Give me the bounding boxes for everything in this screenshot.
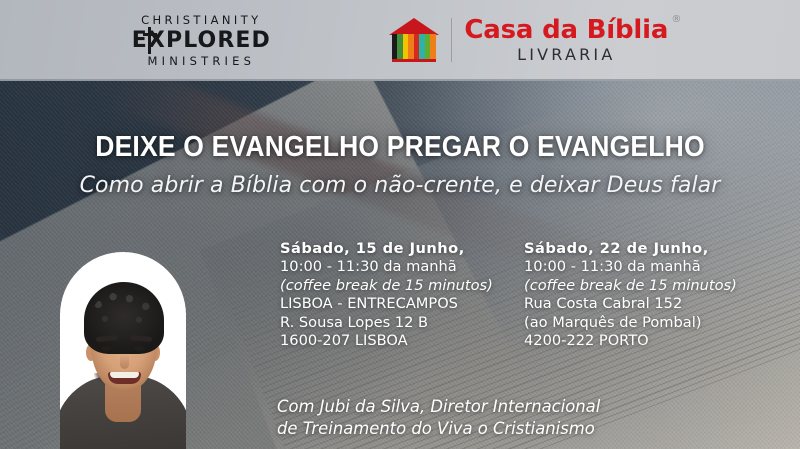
event-date: Sábado, 22 de Junho, [524, 240, 737, 258]
speaker-credit-line-1: Com Jubi da Silva, Diretor Internacional [277, 396, 600, 418]
event-details: Sábado, 15 de Junho, 10:00 - 11:30 da ma… [0, 0, 800, 449]
event-address: R. Sousa Lopes 12 B [280, 314, 493, 332]
event-postal: 4200-222 PORTO [524, 332, 737, 350]
event-venue: Rua Costa Cabral 152 [524, 295, 737, 313]
event-block-porto: Sábado, 22 de Junho, 10:00 - 11:30 da ma… [524, 240, 737, 350]
event-note: (coffee break de 15 minutos) [524, 277, 737, 295]
speaker-credit: Com Jubi da Silva, Diretor Internacional… [277, 396, 600, 440]
event-time: 10:00 - 11:30 da manhã [524, 258, 737, 276]
event-postal: 1600-207 LISBOA [280, 332, 493, 350]
event-block-lisboa: Sábado, 15 de Junho, 10:00 - 11:30 da ma… [280, 240, 493, 350]
event-venue: LISBOA - ENTRECAMPOS [280, 295, 493, 313]
event-address: (ao Marquês de Pombal) [524, 314, 737, 332]
event-time: 10:00 - 11:30 da manhã [280, 258, 493, 276]
speaker-credit-line-2: de Treinamento do Viva o Cristianismo [277, 418, 600, 440]
event-poster: CHRISTIANITY EXPLORED MINISTRIES [0, 0, 800, 449]
event-date: Sábado, 15 de Junho, [280, 240, 493, 258]
event-note: (coffee break de 15 minutos) [280, 277, 493, 295]
